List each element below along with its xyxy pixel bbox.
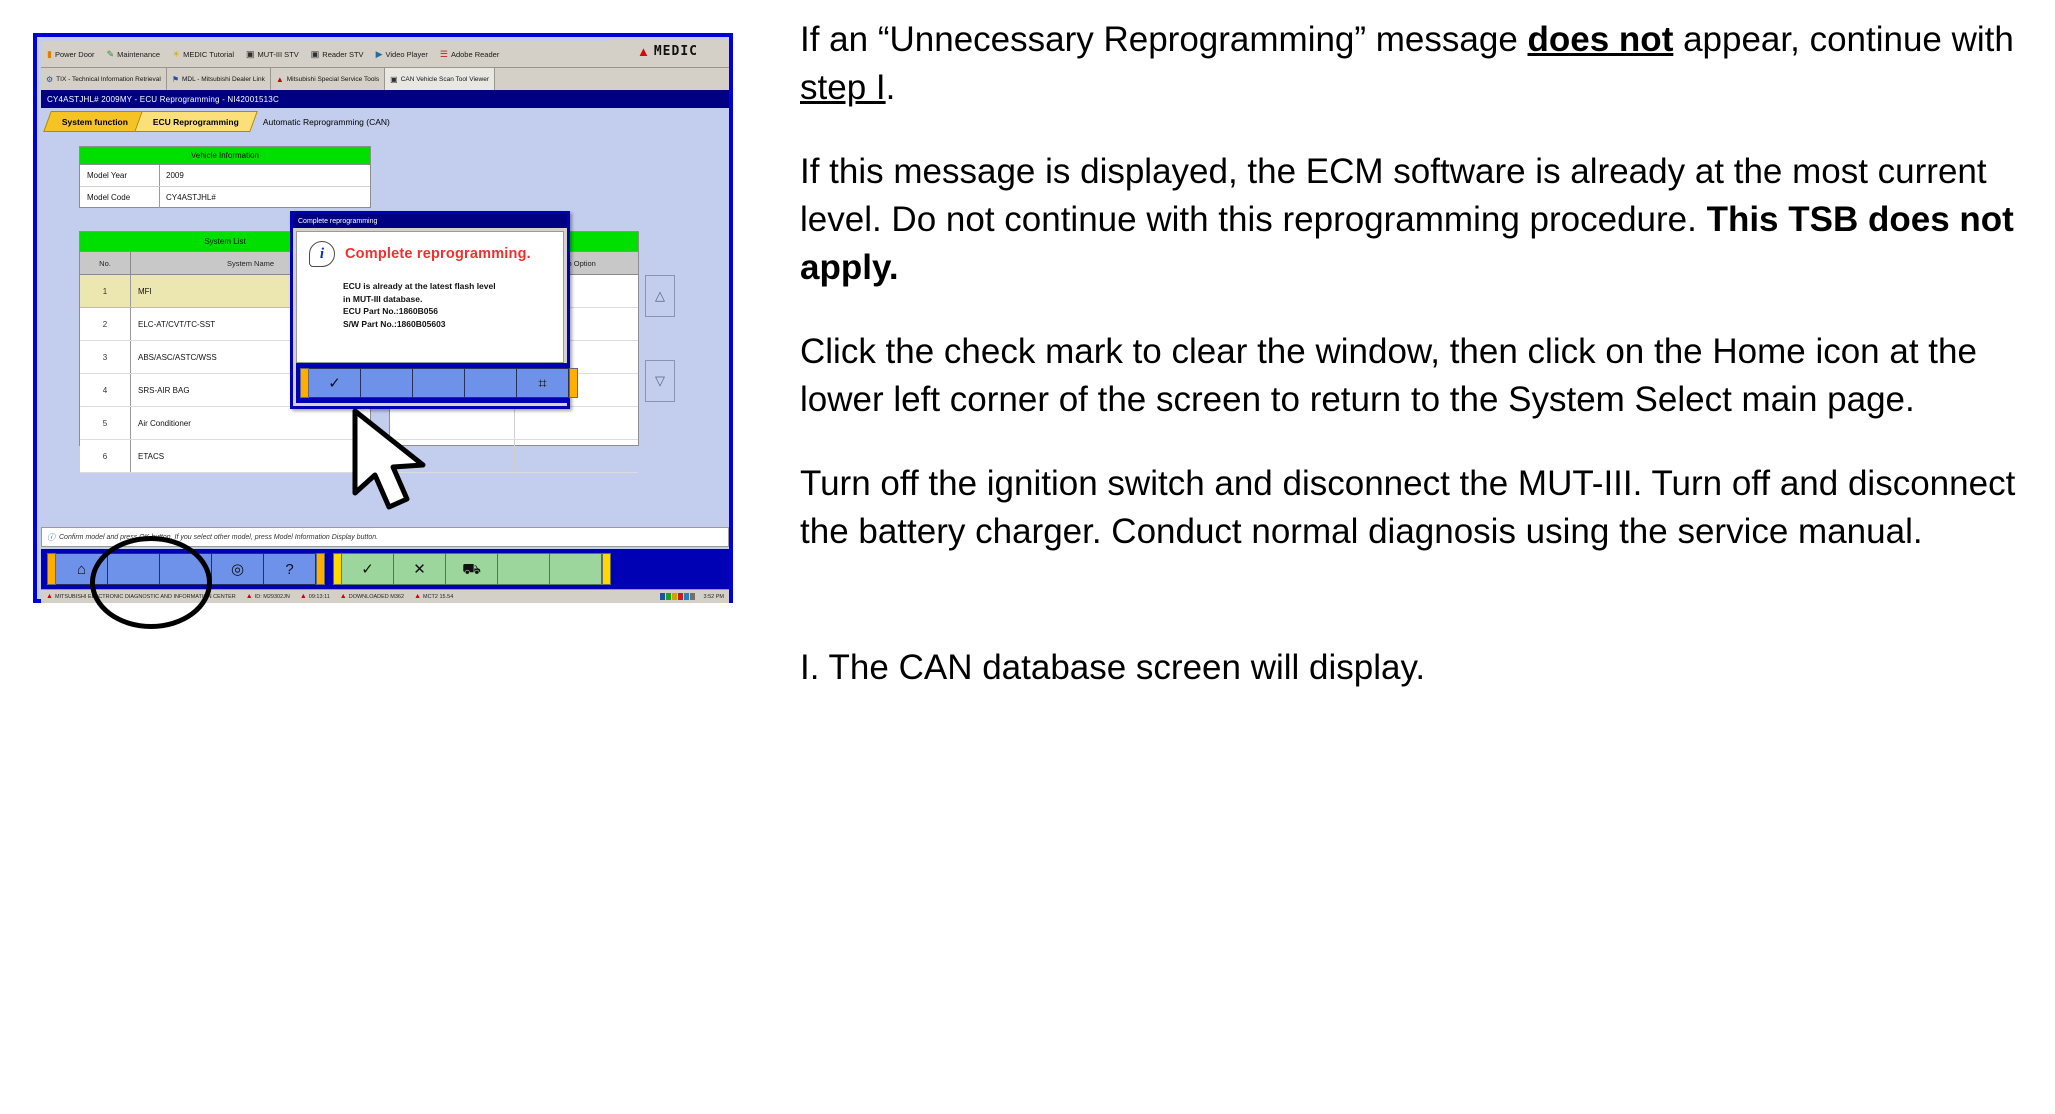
menu-item-label: MUT-III STV	[258, 50, 299, 59]
row-no: 1	[80, 275, 131, 307]
scroll-up-button[interactable]: △	[645, 275, 675, 317]
status-item-id: ▲ ID: M29302JN	[241, 593, 295, 600]
instruction-paragraph-5: I. The CAN database screen will display.	[800, 644, 2030, 692]
breadcrumb-item-automatic-reprogramming-can: Automatic Reprogramming (CAN)	[246, 112, 408, 131]
breadcrumb-label: ECU Reprogramming	[153, 116, 239, 126]
breadcrumb-label: Automatic Reprogramming (CAN)	[263, 116, 390, 126]
group-cap-right	[316, 553, 325, 585]
mitsubishi-triangle-icon: ▲	[46, 593, 53, 600]
dialog-line-2: in MUT-III database.	[343, 293, 563, 306]
check-mark-icon: ✓	[328, 376, 341, 391]
info-icon-glyph: i	[320, 246, 324, 263]
chevron-up-icon: △	[655, 288, 665, 304]
cancel-button[interactable]: ✕	[394, 553, 446, 585]
tool-tab-label: CAN Vehicle Scan Tool Viewer	[401, 76, 489, 83]
menu-item-maintenance[interactable]: ✎ Maintenance	[101, 42, 167, 66]
vehicle-button[interactable]: ⛟	[446, 553, 498, 585]
menu-item-label: MEDIC Tutorial	[183, 50, 234, 59]
breadcrumb-item-ecu-reprogramming[interactable]: ECU Reprogramming	[134, 111, 258, 132]
chevron-down-icon: ▽	[655, 373, 665, 389]
table-row[interactable]: 5 Air Conditioner	[80, 407, 370, 440]
mitsubishi-triangle-icon: ▲	[414, 593, 421, 600]
row-no: 4	[80, 374, 131, 406]
model-code-label: Model Code	[80, 187, 160, 208]
tool-tab-special-service-tools[interactable]: ▲ Mitsubishi Special Service Tools	[271, 68, 385, 90]
check-mark-icon: ✓	[361, 562, 374, 577]
status-item-mct2: ▲ MCT2 15.54	[409, 593, 458, 600]
mut3-stv-icon: ▣	[246, 50, 255, 59]
mitsubishi-triangle-icon: ▲	[340, 593, 347, 600]
mouse-cursor-arrow	[349, 407, 445, 515]
blank-button-4[interactable]	[550, 553, 602, 585]
tool-tab-label: Mitsubishi Special Service Tools	[287, 76, 379, 83]
vehicle-information-row: Model Year 2009	[80, 165, 370, 187]
p1-part-c: appear, continue with	[1673, 20, 2014, 59]
instruction-text: If an “Unnecessary Reprogramming” messag…	[800, 16, 2030, 728]
dialog-command-bar: ✓ ⌗	[296, 363, 570, 403]
model-code-value: CY4ASTJHL#	[160, 187, 370, 208]
paragraph-spacer	[800, 592, 2030, 644]
row-no: 6	[80, 440, 131, 472]
status-item-download: ▲ DOWNLOADED M362	[335, 593, 409, 600]
dialog-blank-3[interactable]	[465, 368, 517, 398]
p1-part-a: If an “Unnecessary Reprogramming” messag…	[800, 20, 1528, 59]
power-door-icon: ▮	[47, 50, 52, 59]
window-title-bar: CY4ASTJHL# 2009MY - ECU Reprogramming - …	[41, 90, 729, 108]
search-button[interactable]: ◎	[212, 553, 264, 585]
column-header-no: No.	[80, 252, 131, 274]
dialog-line-ecu-part-no: ECU Part No.:1860B056	[343, 305, 563, 318]
row-no: 5	[80, 407, 131, 439]
tool-tab-can-vehicle-scan-tool-viewer[interactable]: ▣ CAN Vehicle Scan Tool Viewer	[385, 68, 495, 90]
hint-bar: ⓘ Confirm model and press OK button. If …	[41, 527, 729, 547]
breadcrumb: System function ECU Reprogramming Automa…	[41, 108, 729, 134]
dialog-heading-text: Complete reprogramming.	[345, 246, 531, 262]
instruction-paragraph-3: Click the check mark to clear the window…	[800, 328, 2030, 424]
blank-button-3[interactable]	[498, 553, 550, 585]
tool-tab-bar: ⚙ TIX - Technical Information Retrieval …	[41, 68, 729, 90]
question-mark-icon: ?	[285, 562, 293, 577]
menu-item-label: Maintenance	[117, 50, 160, 59]
tool-tab-label: TIX - Technical Information Retrieval	[56, 76, 161, 83]
dialog-blank-1[interactable]	[361, 368, 413, 398]
dialog-blank-2[interactable]	[413, 368, 465, 398]
video-player-icon: ▶	[376, 50, 383, 59]
complete-reprogramming-dialog: Complete reprogramming i Complete reprog…	[290, 211, 570, 409]
mitsubishi-triangle-icon: ▲	[637, 45, 650, 58]
dialog-button-group: ✓ ⌗	[300, 368, 578, 398]
system-tray-icons	[660, 593, 699, 600]
group-cap-right	[602, 553, 611, 585]
breadcrumb-label: System function	[62, 116, 128, 126]
home-button[interactable]: ⌂	[56, 553, 108, 585]
group-cap-left	[47, 553, 56, 585]
p1-does-not: does not	[1528, 20, 1674, 59]
tool-tab-tix[interactable]: ⚙ TIX - Technical Information Retrieval	[41, 68, 167, 90]
vehicle-information-panel: Vehicle Information Model Year 2009 Mode…	[79, 146, 371, 208]
breadcrumb-item-system-function[interactable]: System function	[43, 111, 147, 132]
model-year-value: 2009	[160, 165, 370, 186]
menu-item-label: Adobe Reader	[451, 50, 499, 59]
blank-button-1[interactable]	[108, 553, 160, 585]
menu-item-mut3-stv[interactable]: ▣ MUT-III STV	[240, 42, 305, 66]
menu-item-video-player[interactable]: ▶ Video Player	[370, 42, 434, 66]
group-cap-right	[569, 368, 578, 398]
reader-stv-icon: ▣	[311, 50, 320, 59]
vehicle-information-header: Vehicle Information	[80, 147, 370, 165]
tool-tab-label: MDL - Mitsubishi Dealer Link	[182, 76, 265, 83]
mitsubishi-triangle-icon: ▲	[246, 593, 253, 600]
status-bar: ▲ MITSUBISHI ELECTRONIC DIAGNOSTIC AND I…	[41, 589, 729, 603]
row-system-name: Air Conditioner	[131, 407, 370, 439]
list-scrollbar[interactable]: △ ▽	[645, 231, 675, 446]
p1-part-e: .	[886, 68, 896, 107]
row-no: 2	[80, 308, 131, 340]
command-group-left: ⌂ ◎ ?	[47, 553, 325, 585]
tool-tab-mdl[interactable]: ⚑ MDL - Mitsubishi Dealer Link	[167, 68, 271, 90]
mdl-icon: ⚑	[172, 75, 179, 84]
x-mark-icon: ✕	[413, 562, 426, 577]
medic-wordmark: MEDIC	[654, 44, 698, 59]
hint-text: Confirm model and press OK button. If yo…	[59, 534, 378, 541]
car-icon: ⛟	[462, 562, 481, 577]
dialog-title-bar: Complete reprogramming	[293, 214, 567, 228]
table-row[interactable]: 6 ETACS	[80, 440, 370, 473]
menu-item-power-door[interactable]: ▮ Power Door	[41, 42, 101, 66]
dialog-line-1: ECU is already at the latest flash level	[343, 280, 563, 293]
adobe-reader-icon: ☰	[440, 50, 448, 59]
print-icon: ⌗	[538, 376, 546, 391]
clock-text: 3:52 PM	[704, 594, 724, 600]
dialog-body: i Complete reprogramming. ECU is already…	[296, 231, 564, 363]
tix-icon: ⚙	[46, 75, 53, 84]
menu-item-label: Reader STV	[322, 50, 363, 59]
dialog-ok-button[interactable]: ✓	[309, 368, 361, 398]
blank-button-2[interactable]	[160, 553, 212, 585]
magnifier-icon: ◎	[231, 562, 244, 577]
row-no: 3	[80, 341, 131, 373]
group-cap-left	[333, 553, 342, 585]
status-text: DOWNLOADED M362	[349, 594, 404, 600]
tutorial-icon: ☀	[172, 50, 180, 59]
info-note-icon: ⓘ	[47, 532, 55, 543]
dialog-headline: i Complete reprogramming.	[297, 232, 563, 267]
dialog-detail-lines: ECU is already at the latest flash level…	[297, 267, 563, 330]
medic-logo: ▲ MEDIC	[610, 40, 725, 63]
menu-item-medic-tutorial[interactable]: ☀ MEDIC Tutorial	[166, 42, 240, 66]
home-icon: ⌂	[77, 562, 86, 577]
status-item-center: ▲ MITSUBISHI ELECTRONIC DIAGNOSTIC AND I…	[41, 593, 241, 600]
vehicle-information-row: Model Code CY4ASTJHL#	[80, 187, 370, 208]
status-item-time: ▲ 09:13:11	[295, 593, 335, 600]
msst-icon: ▲	[276, 75, 284, 84]
ok-button[interactable]: ✓	[342, 553, 394, 585]
dialog-title-text: Complete reprogramming	[298, 218, 377, 225]
mitsubishi-triangle-icon: ▲	[300, 593, 307, 600]
instruction-paragraph-4: Turn off the ignition switch and disconn…	[800, 460, 2030, 556]
command-bar: ⌂ ◎ ? ✓ ✕ ⛟	[41, 549, 729, 589]
maintenance-icon: ✎	[107, 50, 115, 59]
group-cap-left	[300, 368, 309, 398]
info-icon: i	[309, 241, 335, 267]
model-year-label: Model Year	[80, 165, 160, 186]
command-group-right: ✓ ✕ ⛟	[333, 553, 611, 585]
window-title-text: CY4ASTJHL# 2009MY - ECU Reprogramming - …	[47, 95, 279, 104]
mut3-application-screenshot: ▮ Power Door ✎ Maintenance ☀ MEDIC Tutor…	[33, 33, 733, 603]
instruction-paragraph-2: If this message is displayed, the ECM so…	[800, 148, 2030, 292]
status-text: MITSUBISHI ELECTRONIC DIAGNOSTIC AND INF…	[55, 594, 236, 600]
menu-item-reader-stv[interactable]: ▣ Reader STV	[305, 42, 370, 66]
status-text: MCT2 15.54	[423, 594, 453, 600]
instruction-paragraph-1: If an “Unnecessary Reprogramming” messag…	[800, 16, 2030, 112]
menu-item-adobe-reader[interactable]: ☰ Adobe Reader	[434, 42, 505, 66]
can-scan-tool-icon: ▣	[390, 75, 398, 84]
menu-item-label: Power Door	[55, 50, 95, 59]
with-option-cell	[515, 440, 639, 472]
dialog-line-sw-part-no: S/W Part No.:1860B05603	[343, 318, 563, 331]
scroll-down-button[interactable]: ▽	[645, 360, 675, 402]
with-option-cell	[515, 407, 639, 439]
menu-item-label: Video Player	[385, 50, 427, 59]
row-system-name: ETACS	[131, 440, 370, 472]
help-button[interactable]: ?	[264, 553, 316, 585]
status-text: ID: M29302JN	[255, 594, 290, 600]
dialog-print-button[interactable]: ⌗	[517, 368, 569, 398]
system-tray-clock: 3:52 PM	[699, 594, 729, 600]
p1-step-i: step I	[800, 68, 886, 107]
status-text: 09:13:11	[309, 594, 330, 600]
